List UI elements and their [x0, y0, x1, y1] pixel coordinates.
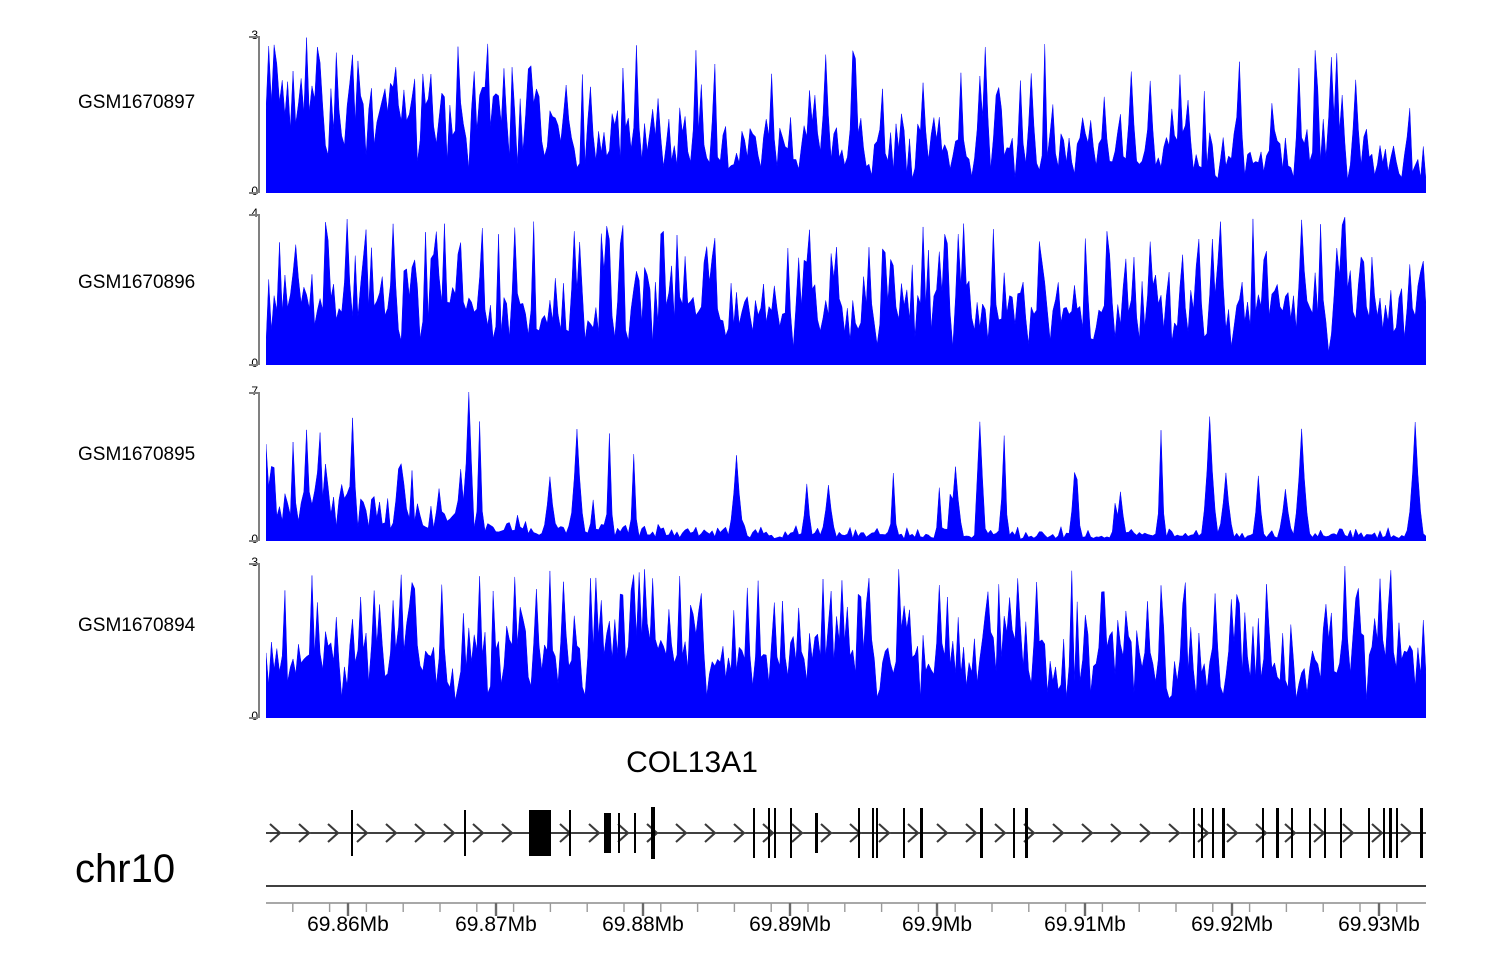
y-axis-tick-min-2	[249, 540, 258, 542]
exon-block	[1324, 808, 1326, 858]
exon-block	[903, 808, 905, 858]
strand-arrow-icon	[357, 824, 367, 842]
coverage-area	[266, 392, 1426, 541]
exon-block	[774, 808, 776, 858]
strand-arrow-icon	[1198, 824, 1208, 842]
y-axis-max-label-3: 3	[218, 555, 258, 569]
exon-block	[1013, 808, 1015, 858]
strand-arrow-icon	[937, 824, 947, 842]
y-axis-line-1	[258, 214, 260, 365]
strand-arrow-icon	[1285, 824, 1295, 842]
exon-block	[876, 808, 878, 858]
exon-block	[1368, 808, 1370, 858]
chromosome-label: chr10	[75, 847, 175, 892]
exon-block	[1193, 808, 1195, 858]
strand-arrow-icon	[444, 824, 454, 842]
strand-arrow-icon	[908, 824, 918, 842]
y-axis-tick-max-2	[249, 392, 258, 394]
exon-block	[529, 810, 551, 856]
strand-arrow-icon	[1401, 824, 1411, 842]
track-label-gsm1670894: GSM1670894	[78, 615, 195, 637]
exon-block	[1212, 808, 1214, 858]
strand-arrow-icon	[560, 824, 570, 842]
y-axis-line-2	[258, 392, 260, 541]
y-axis-min-label-3: 0	[218, 709, 258, 723]
strand-arrow-icon	[1256, 824, 1266, 842]
strand-arrow-icon	[270, 824, 280, 842]
y-axis-tick-min-3	[249, 717, 258, 719]
strand-arrow-icon	[328, 824, 338, 842]
strand-arrow-icon	[473, 824, 483, 842]
strand-arrow-icon	[850, 824, 860, 842]
exon-block	[1420, 808, 1423, 858]
exon-block	[1025, 808, 1028, 858]
exon-block	[1222, 808, 1225, 858]
ruler-tick-label-1: 69.87Mb	[455, 913, 537, 937]
coverage-area	[266, 217, 1426, 365]
strand-arrow-icon	[415, 824, 425, 842]
y-axis-tick-max-0	[249, 36, 258, 38]
exon-block	[651, 807, 655, 859]
strand-arrow-icon	[618, 824, 628, 842]
exon-block	[768, 808, 770, 858]
strand-arrow-icon	[1372, 824, 1382, 842]
strand-arrow-icon	[1024, 824, 1034, 842]
ruler-tick-label-7: 69.93Mb	[1338, 913, 1420, 937]
strand-arrow-icon	[1343, 824, 1353, 842]
exon-block	[604, 813, 611, 853]
strand-arrow-icon	[1314, 824, 1324, 842]
y-axis-line-0	[258, 36, 260, 193]
strand-arrow-icon	[531, 824, 541, 842]
exon-block	[464, 810, 466, 856]
y-axis-min-label-1: 0	[218, 356, 258, 370]
exon-block	[1262, 808, 1264, 858]
exon-block	[569, 810, 571, 856]
strand-arrow-icon	[1053, 824, 1063, 842]
y-axis-tick-min-0	[249, 192, 258, 194]
exon-block	[815, 813, 818, 853]
exon-block	[1396, 808, 1398, 858]
ruler-tick-label-5: 69.91Mb	[1044, 913, 1126, 937]
y-axis-max-label-2: 7	[218, 384, 258, 398]
strand-arrow-icon	[1227, 824, 1237, 842]
strand-arrow-icon	[995, 824, 1005, 842]
strand-arrow-icon	[1111, 824, 1121, 842]
exon-block	[872, 808, 874, 858]
y-axis-min-label-2: 0	[218, 532, 258, 546]
exon-block	[920, 808, 923, 858]
strand-arrow-icon	[676, 824, 686, 842]
exon-block	[1389, 808, 1392, 858]
exon-block	[634, 813, 636, 853]
strand-arrow-icon	[734, 824, 744, 842]
exon-block	[1309, 808, 1311, 858]
y-axis-tick-max-3	[249, 563, 258, 565]
exon-block	[1383, 808, 1385, 858]
exon-block	[1276, 808, 1279, 858]
ruler-tick-label-0: 69.86Mb	[307, 913, 389, 937]
exon-block	[618, 813, 620, 853]
exon-block	[1291, 808, 1293, 858]
track-label-gsm1670897: GSM1670897	[78, 92, 195, 114]
exon-block	[1201, 808, 1203, 858]
strand-arrow-icon	[966, 824, 976, 842]
strand-arrow-icon	[1169, 824, 1179, 842]
coverage-plot-gsm1670895	[266, 392, 1426, 541]
strand-arrow-icon	[647, 824, 657, 842]
y-axis-tick-max-1	[249, 214, 258, 216]
ruler-tick-label-6: 69.92Mb	[1191, 913, 1273, 937]
coverage-area	[266, 566, 1426, 718]
strand-arrow-icon	[502, 824, 512, 842]
exon-block	[858, 808, 860, 858]
y-axis-min-label-0: 0	[218, 184, 258, 198]
exon-block	[980, 808, 983, 858]
genome-browser-view: GSM167089730GSM167089640GSM167089570GSM1…	[0, 0, 1500, 980]
track-label-gsm1670895: GSM1670895	[78, 444, 195, 466]
strand-arrow-icon	[763, 824, 773, 842]
strand-arrow-icon	[821, 824, 831, 842]
strand-arrow-icon	[1140, 824, 1150, 842]
exon-block	[1340, 808, 1342, 858]
y-axis-max-label-0: 3	[218, 28, 258, 42]
y-axis-tick-min-1	[249, 364, 258, 366]
coverage-plot-gsm1670897	[266, 36, 1426, 193]
gene-name-label: COL13A1	[626, 746, 758, 780]
strand-arrow-icon	[792, 824, 802, 842]
exon-block	[351, 810, 353, 856]
ruler-tick-label-3: 69.89Mb	[749, 913, 831, 937]
strand-arrow-icon	[299, 824, 309, 842]
track-label-gsm1670896: GSM1670896	[78, 272, 195, 294]
exon-block	[790, 808, 792, 858]
strand-arrow-icon	[1082, 824, 1092, 842]
ruler-tick-label-4: 69.9Mb	[902, 913, 972, 937]
exon-block	[753, 808, 755, 858]
strand-arrow-icon	[705, 824, 715, 842]
coverage-plot-gsm1670896	[266, 214, 1426, 365]
y-axis-line-3	[258, 563, 260, 718]
strand-arrow-icon	[879, 824, 889, 842]
coverage-plot-gsm1670894	[266, 563, 1426, 718]
y-axis-max-label-1: 4	[218, 206, 258, 220]
strand-arrow-icon	[386, 824, 396, 842]
strand-arrow-icon	[589, 824, 599, 842]
coverage-area	[266, 38, 1426, 193]
ruler-tick-label-2: 69.88Mb	[602, 913, 684, 937]
